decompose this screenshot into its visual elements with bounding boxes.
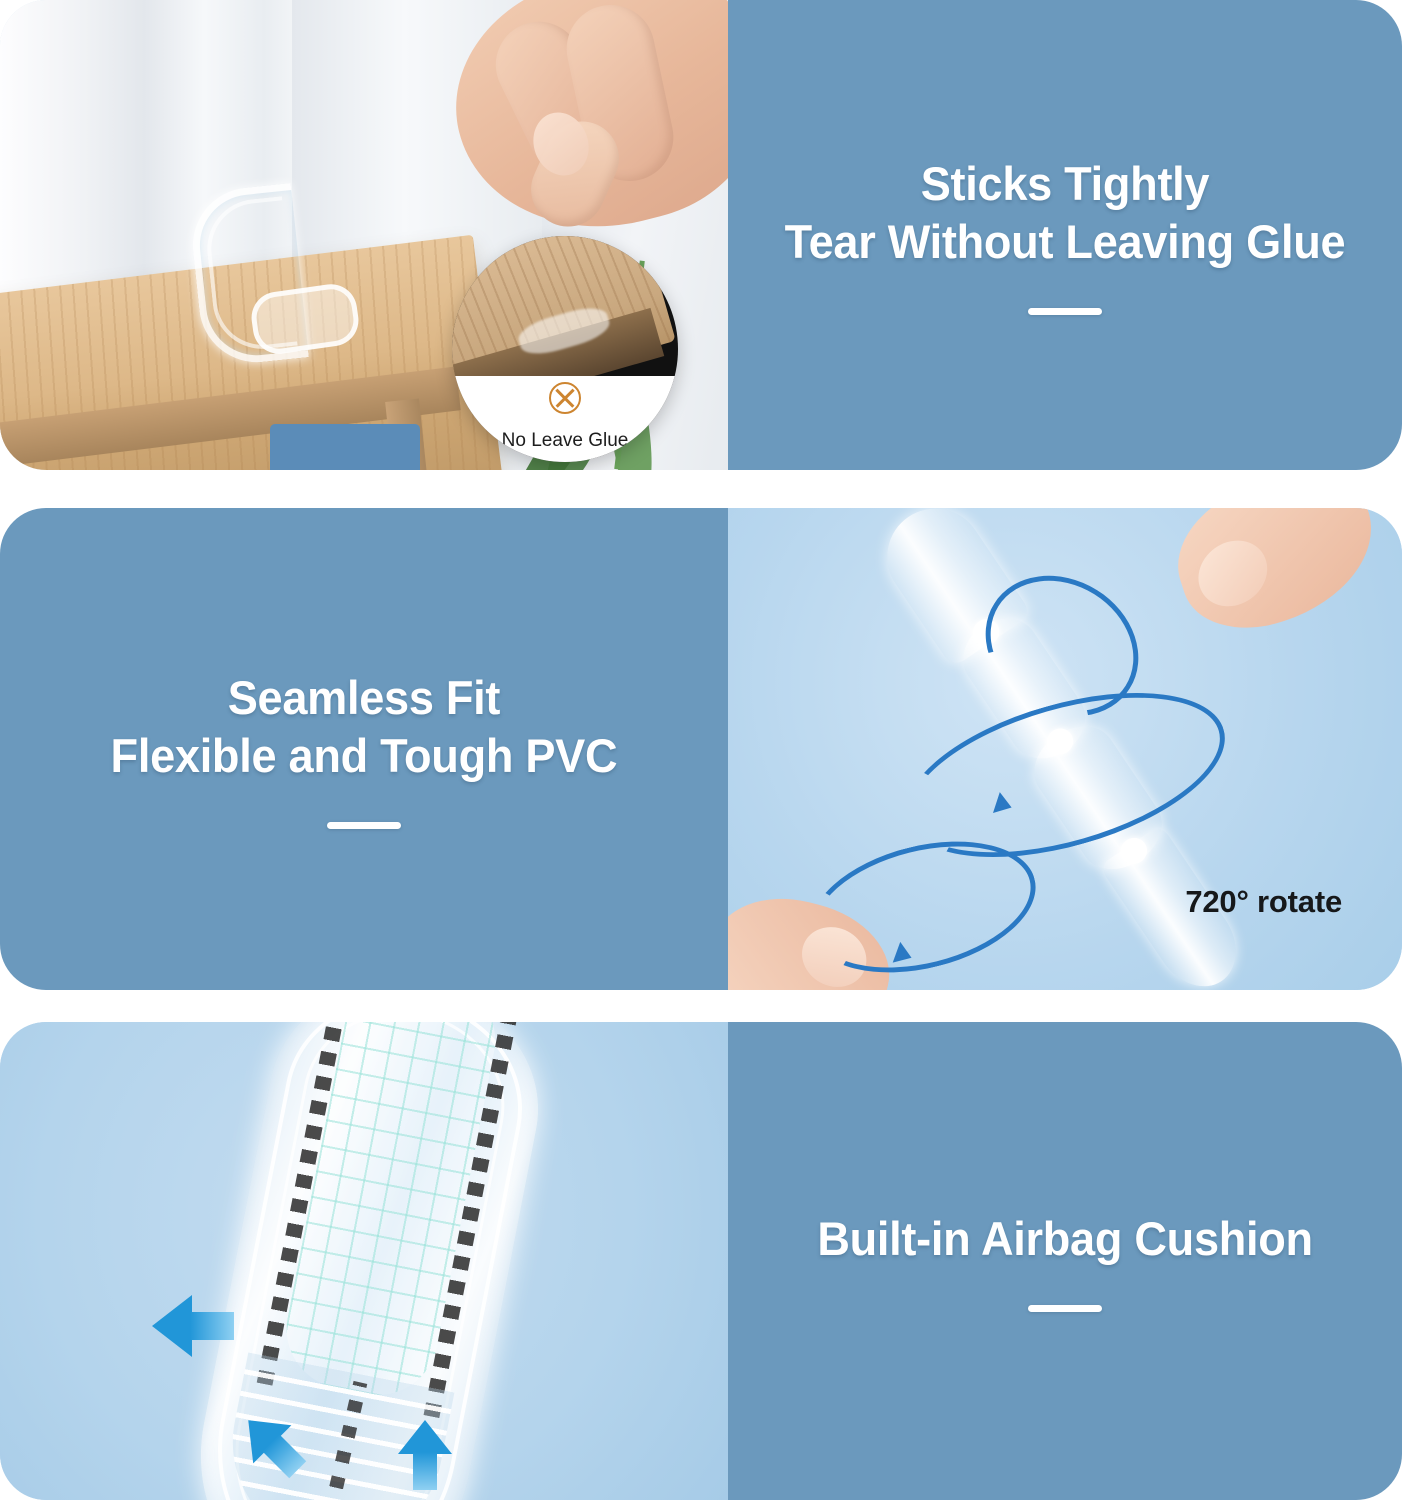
blue-object	[270, 424, 420, 470]
feature-row-airbag-cushion: Built-in Airbag Cushion	[0, 1022, 1402, 1500]
photo-airbag-cushion-guard	[0, 1022, 728, 1500]
headline-line-2: Tear Without Leaving Glue	[785, 213, 1346, 270]
cushion-arrow-left	[152, 1295, 234, 1357]
accent-underline	[1028, 1305, 1102, 1312]
accent-underline	[1028, 308, 1102, 315]
corner-guard-product	[175, 1022, 558, 1500]
headline-line-2: Flexible and Tough PVC	[111, 727, 618, 784]
no-leave-glue-label: No Leave Glue	[452, 430, 678, 452]
photo-hand-peeling-corner-guard: No Leave Glue	[0, 0, 728, 470]
headline-sticks-tightly: Sticks Tightly Tear Without Leaving Glue	[785, 155, 1346, 270]
accent-underline	[327, 822, 401, 829]
photo-twisted-pvc-strip: 720° rotate	[728, 508, 1402, 990]
cushion-arrow-down	[398, 1420, 452, 1490]
headline-seamless-fit: Seamless Fit Flexible and Tough PVC	[111, 669, 618, 784]
headline-line-1: Sticks Tightly	[785, 155, 1346, 212]
circle-x-icon	[549, 382, 581, 414]
headline-line-1: Built-in Airbag Cushion	[817, 1210, 1312, 1267]
headline-line-1: Seamless Fit	[111, 669, 618, 726]
text-panel-airbag-cushion: Built-in Airbag Cushion	[728, 1022, 1402, 1500]
feature-row-sticks-tightly: No Leave Glue Sticks Tightly Tear Withou…	[0, 0, 1402, 470]
rotate-callout-label: 720° rotate	[1185, 884, 1342, 920]
headline-airbag-cushion: Built-in Airbag Cushion	[817, 1210, 1312, 1267]
text-panel-seamless-fit: Seamless Fit Flexible and Tough PVC	[0, 508, 728, 990]
product-feature-board: No Leave Glue Sticks Tightly Tear Withou…	[0, 0, 1402, 1500]
no-leave-glue-badge: No Leave Glue	[452, 236, 678, 462]
text-panel-sticks-tightly: Sticks Tightly Tear Without Leaving Glue	[728, 0, 1402, 470]
feature-row-seamless-fit: Seamless Fit Flexible and Tough PVC	[0, 508, 1402, 990]
finger-top	[1160, 508, 1393, 648]
